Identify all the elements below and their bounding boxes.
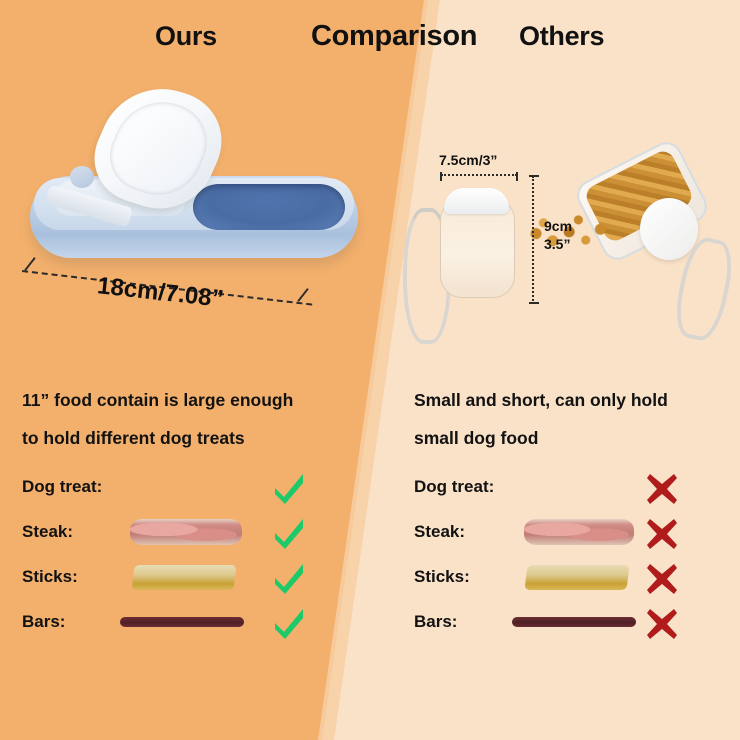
height-tick-top (529, 175, 539, 177)
heading-ours: Ours (155, 21, 217, 52)
comparison-infographic: Ours Comparison Others 18cm/7.08” (0, 0, 740, 740)
cross-icon (645, 607, 679, 641)
row-label-steak: Steak: (414, 522, 465, 542)
height-tick-bottom (529, 302, 539, 304)
treat-image-bars (512, 617, 636, 627)
check-icon (272, 517, 306, 551)
container-knob (70, 166, 94, 188)
left-description-line-2: to hold different dog treats (22, 419, 293, 457)
width-tick-end (516, 172, 518, 181)
comparison-row: Bars: (400, 603, 730, 648)
row-label-steak: Steak: (22, 522, 73, 542)
row-label-sticks: Sticks: (22, 567, 78, 587)
comparison-row: Bars: (0, 603, 340, 648)
row-label-dog-treat: Dog treat: (22, 477, 102, 497)
check-icon (272, 472, 306, 506)
row-label-dog-treat: Dog treat: (414, 477, 494, 497)
row-label-bars: Bars: (22, 612, 65, 632)
check-icon (272, 607, 306, 641)
container-lid-inner (97, 91, 221, 205)
row-label-bars: Bars: (414, 612, 457, 632)
check-icon (272, 562, 306, 596)
right-height-label-in: 3.5” (544, 236, 572, 254)
right-comparison-list: Dog treat:Steak:Sticks:Bars: (400, 468, 730, 648)
width-tick-start (440, 172, 442, 181)
right-width-dimension-line (441, 174, 517, 176)
cross-icon (645, 472, 679, 506)
left-product-image (30, 88, 360, 278)
cross-icon (645, 562, 679, 596)
comparison-row: Sticks: (0, 558, 340, 603)
row-label-sticks: Sticks: (414, 567, 470, 587)
right-description-line-1: Small and short, can only hold (414, 381, 668, 419)
right-height-label: 9cm 3.5” (544, 218, 572, 253)
jar-lid (640, 198, 698, 260)
container-bowl (193, 184, 345, 230)
comparison-row: Steak: (400, 513, 730, 558)
treat-image-sticks (131, 565, 236, 590)
right-description: Small and short, can only hold small dog… (414, 381, 668, 457)
heading-others: Others (519, 21, 604, 52)
right-width-label: 7.5cm/3” (439, 152, 497, 168)
treat-image-sticks (524, 565, 629, 590)
left-description: 11” food contain is large enough to hold… (22, 381, 293, 457)
right-height-label-cm: 9cm (544, 218, 572, 236)
comparison-row: Sticks: (400, 558, 730, 603)
comparison-row: Steak: (0, 513, 340, 558)
left-comparison-list: Dog treat:Steak:Sticks:Bars: (0, 468, 340, 648)
right-description-line-2: small dog food (414, 419, 668, 457)
comparison-row: Dog treat: (400, 468, 730, 513)
bottle-cap (444, 188, 509, 214)
treat-image-bars (120, 617, 244, 627)
heading-comparison: Comparison (311, 20, 477, 53)
right-product-image: 7.5cm/3” 9cm 3.5” (395, 150, 735, 350)
treat-image-steak (130, 519, 242, 545)
left-description-line-1: 11” food contain is large enough (22, 381, 293, 419)
cross-icon (645, 517, 679, 551)
right-height-dimension-line (532, 176, 534, 304)
comparison-row: Dog treat: (0, 468, 340, 513)
treat-image-steak (524, 519, 634, 545)
